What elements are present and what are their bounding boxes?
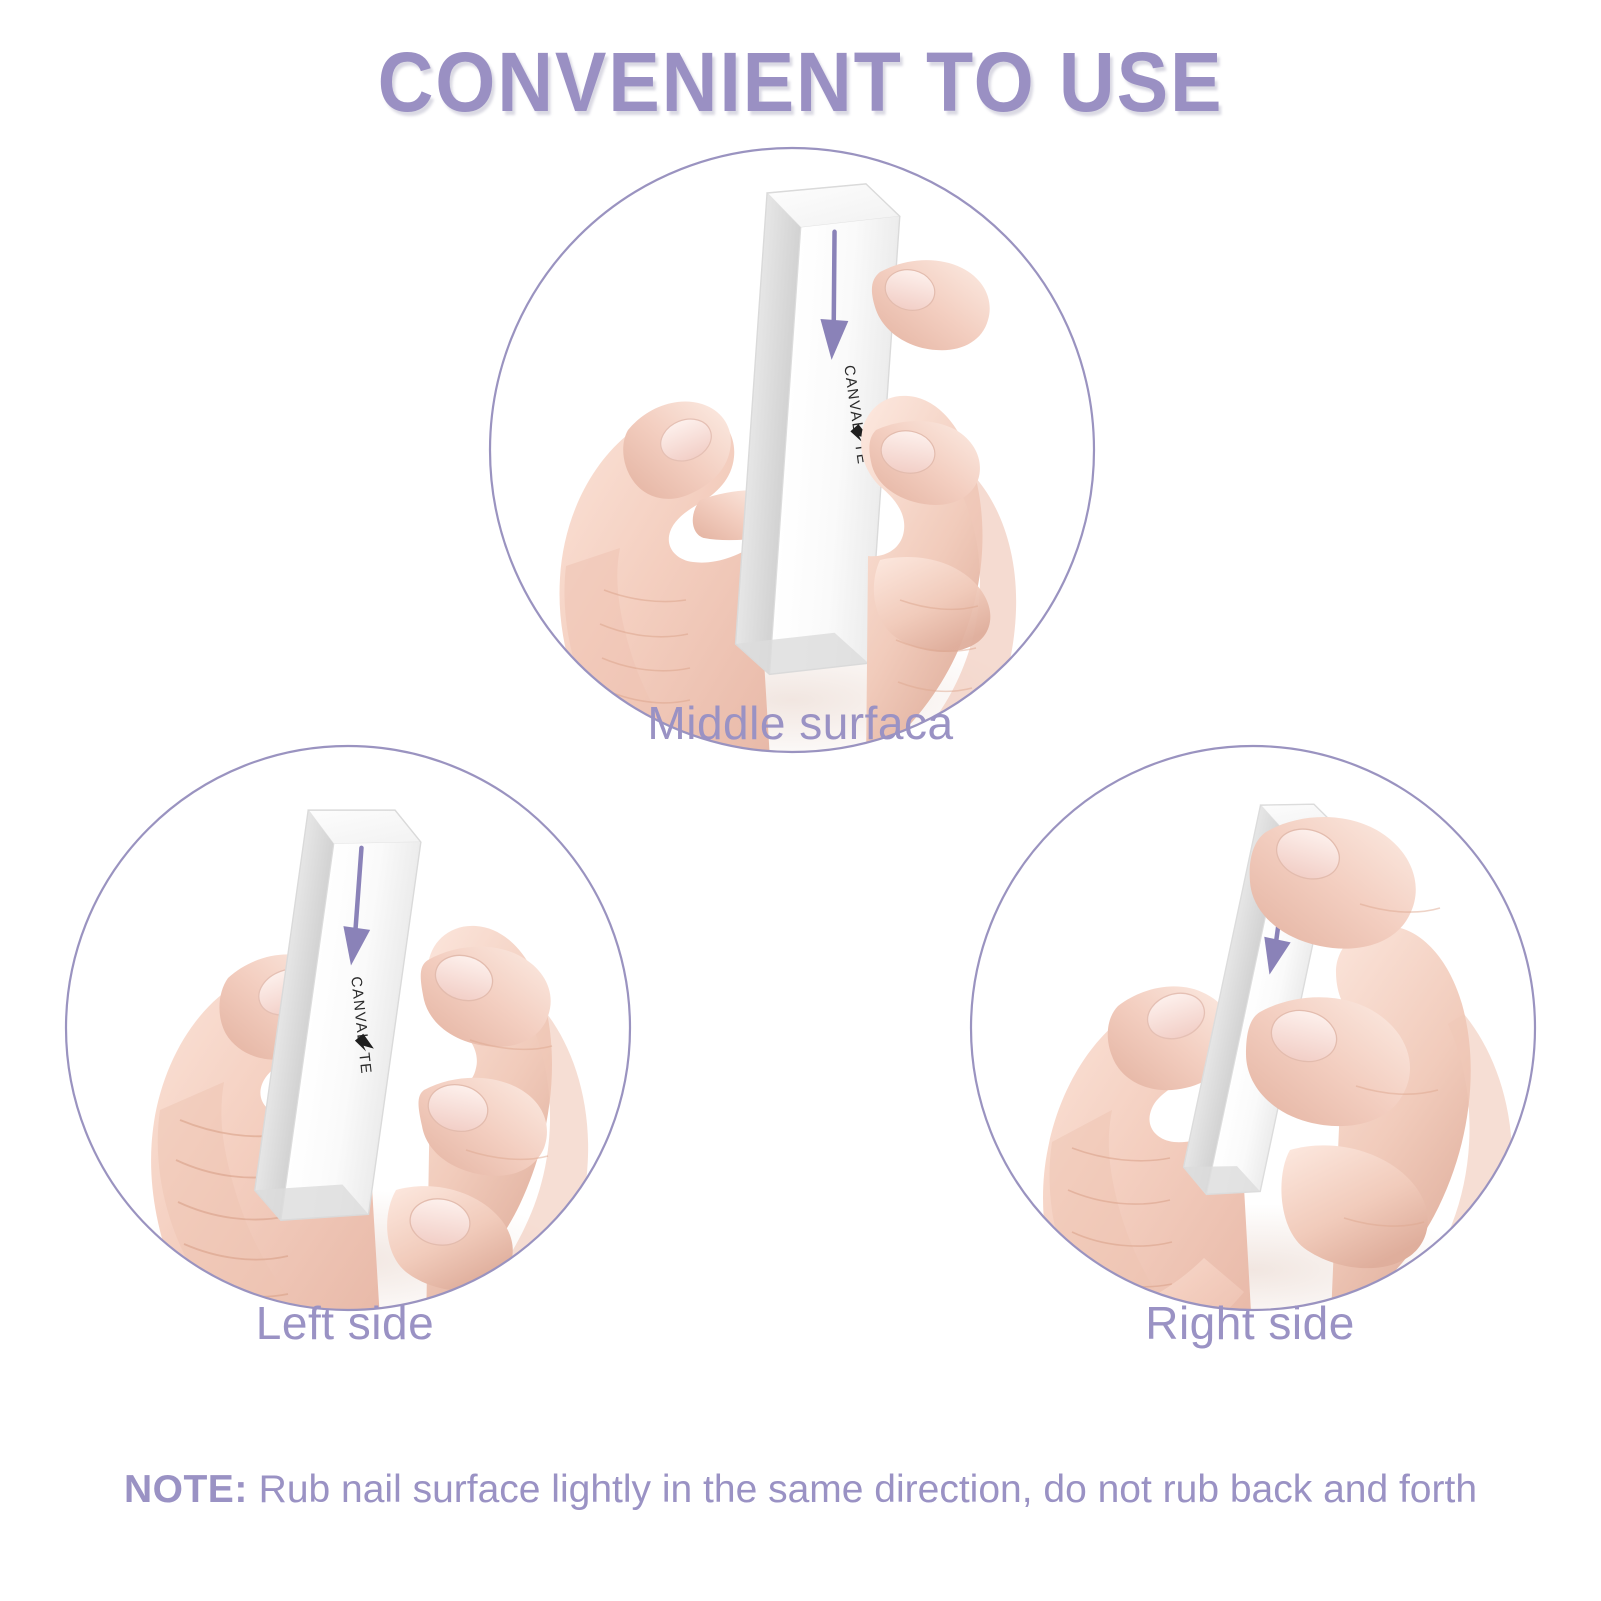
step-label-middle: Middle surfaca (0, 696, 1601, 750)
step-circle-right: CANVAL (965, 740, 1545, 1386)
illustration-scene: CANVAL TE (0, 0, 1601, 1601)
note-text: Rub nail surface lightly in the same dir… (259, 1468, 1477, 1511)
note-prefix: NOTE: (124, 1468, 248, 1511)
step-photo-right: CANVAL (965, 740, 1545, 1386)
page-title: CONVENIENT TO USE (64, 34, 1537, 131)
infographic-canvas: CANVAL TE (0, 0, 1601, 1601)
note-line: NOTE: Rub nail surface lightly in the sa… (0, 1468, 1601, 1512)
step-circle-left: CANVAL TE (60, 740, 640, 1368)
step-label-right: Right side (920, 1296, 1580, 1350)
step-label-left: Left side (0, 1296, 690, 1350)
svg-text:TE: TE (355, 1052, 374, 1076)
